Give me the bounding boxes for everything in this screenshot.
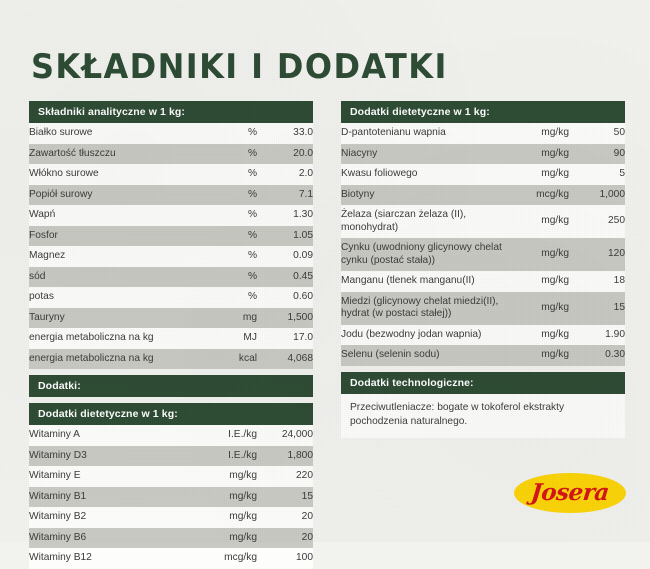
cell-nutrient-name: Witaminy B1 — [29, 487, 195, 508]
cell-nutrient-name: Kwasu foliowego — [341, 164, 507, 185]
table-row: Popiół surowy%7.1 — [29, 185, 313, 206]
analytical-section-header: Składniki analityczne w 1 kg: — [29, 101, 313, 123]
dietetic-right-table: D-pantotenianu wapniamg/kg50Niacynymg/kg… — [341, 123, 625, 366]
cell-value: 7.1 — [257, 185, 313, 206]
cell-value: 4,068 — [257, 349, 313, 370]
right-column: Dodatki dietetyczne w 1 kg: D-pantotenia… — [341, 101, 625, 438]
cell-unit: mg/kg — [507, 123, 569, 144]
cell-value: 0.09 — [257, 246, 313, 267]
cell-value: 250 — [569, 205, 625, 238]
table-row: Magnez%0.09 — [29, 246, 313, 267]
cell-value: 1.30 — [257, 205, 313, 226]
josera-logo: Josera — [514, 473, 626, 513]
table-row: Wapń%1.30 — [29, 205, 313, 226]
cell-nutrient-name: Manganu (tlenek manganu(II) — [341, 271, 507, 292]
cell-nutrient-name: Fosfor — [29, 226, 195, 247]
analytical-table: Białko surowe%33.0Zawartość tłuszczu%20.… — [29, 123, 313, 369]
table-row: Witaminy B2mg/kg20 — [29, 507, 313, 528]
cell-value: 220 — [257, 466, 313, 487]
table-row: D-pantotenianu wapniamg/kg50 — [341, 123, 625, 144]
cell-value: 1,800 — [257, 446, 313, 467]
cell-nutrient-name: energia metaboliczna na kg — [29, 349, 195, 370]
cell-unit: mg/kg — [507, 144, 569, 165]
cell-nutrient-name: Witaminy B6 — [29, 528, 195, 549]
cell-nutrient-name: Witaminy B2 — [29, 507, 195, 528]
left-column: Składniki analityczne w 1 kg: Białko sur… — [29, 101, 313, 569]
table-row: Witaminy B6mg/kg20 — [29, 528, 313, 549]
cell-value: 15 — [569, 292, 625, 325]
cell-nutrient-name: Witaminy A — [29, 425, 195, 446]
analytical-table-body: Białko surowe%33.0Zawartość tłuszczu%20.… — [29, 123, 313, 369]
table-row: sód%0.45 — [29, 267, 313, 288]
cell-value: 17.0 — [257, 328, 313, 349]
table-row: Manganu (tlenek manganu(II)mg/kg18 — [341, 271, 625, 292]
table-row: Miedzi (glicynowy chelat miedzi(II), hyd… — [341, 292, 625, 325]
dietetic-right-section-header: Dodatki dietetyczne w 1 kg: — [341, 101, 625, 123]
table-row: Fosfor%1.05 — [29, 226, 313, 247]
table-row: Taurynymg1,500 — [29, 308, 313, 329]
cell-value: 0.30 — [569, 345, 625, 366]
cell-value: 24,000 — [257, 425, 313, 446]
cell-unit: mg/kg — [507, 271, 569, 292]
table-row: Białko surowe%33.0 — [29, 123, 313, 144]
cell-unit: MJ — [195, 328, 257, 349]
cell-unit: % — [195, 287, 257, 308]
cell-nutrient-name: Cynku (uwodniony glicynowy chelat cynku … — [341, 238, 507, 271]
cell-unit: mcg/kg — [507, 185, 569, 206]
cell-unit: % — [195, 185, 257, 206]
table-row: Witaminy D3I.E./kg1,800 — [29, 446, 313, 467]
cell-value: 33.0 — [257, 123, 313, 144]
cell-nutrient-name: Niacyny — [341, 144, 507, 165]
cell-unit: mg/kg — [195, 466, 257, 487]
cell-nutrient-name: Jodu (bezwodny jodan wapnia) — [341, 325, 507, 346]
cell-nutrient-name: Magnez — [29, 246, 195, 267]
technological-note: Przeciwutleniacze: bogate w tokoferol ek… — [341, 394, 625, 438]
dietetic-left-section-header: Dodatki dietetyczne w 1 kg: — [29, 403, 313, 425]
cell-nutrient-name: Żelaza (siarczan żelaza (II), monohydrat… — [341, 205, 507, 238]
cell-unit: mg — [195, 308, 257, 329]
table-row: potas%0.60 — [29, 287, 313, 308]
table-row: Biotynymcg/kg1,000 — [341, 185, 625, 206]
cell-value: 15 — [257, 487, 313, 508]
cell-value: 5 — [569, 164, 625, 185]
josera-logo-text: Josera — [530, 481, 610, 505]
cell-value: 0.60 — [257, 287, 313, 308]
cell-unit: mg/kg — [507, 238, 569, 271]
cell-nutrient-name: Miedzi (glicynowy chelat miedzi(II), hyd… — [341, 292, 507, 325]
dietetic-right-table-body: D-pantotenianu wapniamg/kg50Niacynymg/kg… — [341, 123, 625, 366]
cell-nutrient-name: Tauryny — [29, 308, 195, 329]
table-row: Witaminy AI.E./kg24,000 — [29, 425, 313, 446]
table-row: Selenu (selenin sodu)mg/kg0.30 — [341, 345, 625, 366]
cell-value: 2.0 — [257, 164, 313, 185]
dietetic-left-table-body: Witaminy AI.E./kg24,000Witaminy D3I.E./k… — [29, 425, 313, 569]
cell-value: 1.05 — [257, 226, 313, 247]
table-row: Niacynymg/kg90 — [341, 144, 625, 165]
cell-value: 90 — [569, 144, 625, 165]
cell-unit: mg/kg — [507, 164, 569, 185]
cell-nutrient-name: Włókno surowe — [29, 164, 195, 185]
technological-section-header: Dodatki technologiczne: — [341, 372, 625, 394]
cell-value: 18 — [569, 271, 625, 292]
cell-nutrient-name: Popiół surowy — [29, 185, 195, 206]
cell-nutrient-name: potas — [29, 287, 195, 308]
cell-value: 50 — [569, 123, 625, 144]
table-row: Kwasu foliowegomg/kg5 — [341, 164, 625, 185]
cell-nutrient-name: Biotyny — [341, 185, 507, 206]
table-row: Witaminy B12mcg/kg100 — [29, 548, 313, 569]
cell-unit: mg/kg — [507, 325, 569, 346]
cell-unit: kcal — [195, 349, 257, 370]
cell-value: 1,500 — [257, 308, 313, 329]
table-row: energia metaboliczna na kgMJ17.0 — [29, 328, 313, 349]
cell-value: 1.90 — [569, 325, 625, 346]
cell-unit: mg/kg — [507, 292, 569, 325]
cell-nutrient-name: energia metaboliczna na kg — [29, 328, 195, 349]
cell-nutrient-name: D-pantotenianu wapnia — [341, 123, 507, 144]
cell-nutrient-name: Selenu (selenin sodu) — [341, 345, 507, 366]
table-row: Włókno surowe%2.0 — [29, 164, 313, 185]
cell-value: 0.45 — [257, 267, 313, 288]
table-row: Jodu (bezwodny jodan wapnia)mg/kg1.90 — [341, 325, 625, 346]
cell-nutrient-name: sód — [29, 267, 195, 288]
dietetic-left-table: Witaminy AI.E./kg24,000Witaminy D3I.E./k… — [29, 425, 313, 569]
cell-nutrient-name: Białko surowe — [29, 123, 195, 144]
cell-unit: % — [195, 267, 257, 288]
cell-value: 20 — [257, 507, 313, 528]
cell-unit: % — [195, 226, 257, 247]
cell-unit: % — [195, 123, 257, 144]
cell-unit: I.E./kg — [195, 446, 257, 467]
cell-unit: mg/kg — [195, 487, 257, 508]
cell-nutrient-name: Zawartość tłuszczu — [29, 144, 195, 165]
cell-unit: mg/kg — [507, 345, 569, 366]
cell-unit: mg/kg — [195, 507, 257, 528]
table-row: Żelaza (siarczan żelaza (II), monohydrat… — [341, 205, 625, 238]
cell-unit: mg/kg — [195, 528, 257, 549]
cell-unit: mcg/kg — [195, 548, 257, 569]
table-row: Witaminy B1mg/kg15 — [29, 487, 313, 508]
cell-unit: % — [195, 144, 257, 165]
table-row: Zawartość tłuszczu%20.0 — [29, 144, 313, 165]
table-row: Witaminy Emg/kg220 — [29, 466, 313, 487]
cell-value: 1,000 — [569, 185, 625, 206]
table-row: energia metaboliczna na kgkcal4,068 — [29, 349, 313, 370]
cell-unit: I.E./kg — [195, 425, 257, 446]
cell-nutrient-name: Witaminy E — [29, 466, 195, 487]
cell-unit: % — [195, 164, 257, 185]
cell-nutrient-name: Witaminy B12 — [29, 548, 195, 569]
cell-value: 100 — [257, 548, 313, 569]
cell-value: 20 — [257, 528, 313, 549]
cell-value: 20.0 — [257, 144, 313, 165]
table-row: Cynku (uwodniony glicynowy chelat cynku … — [341, 238, 625, 271]
page-title: SKŁADNIKI I DODATKI — [31, 47, 448, 87]
additives-section-header: Dodatki: — [29, 375, 313, 397]
cell-value: 120 — [569, 238, 625, 271]
cell-unit: % — [195, 246, 257, 267]
cell-unit: mg/kg — [507, 205, 569, 238]
cell-nutrient-name: Wapń — [29, 205, 195, 226]
cell-unit: % — [195, 205, 257, 226]
cell-nutrient-name: Witaminy D3 — [29, 446, 195, 467]
